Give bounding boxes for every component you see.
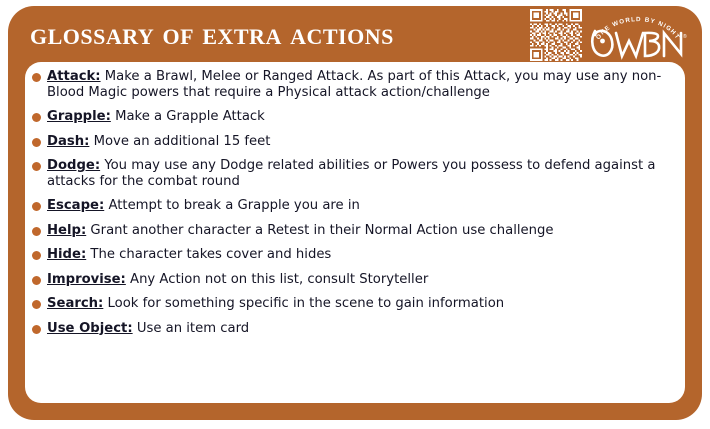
glossary-term: Escape: — [47, 198, 104, 213]
qr-code-icon — [530, 9, 582, 61]
glossary-term: Grapple: — [47, 109, 111, 124]
glossary-card: Glossary of Extra Actions — [8, 6, 702, 420]
list-item: Grapple: Make a Grapple Attack — [25, 109, 685, 125]
glossary-description: Look for something specific in the scene… — [108, 296, 505, 311]
glossary-description: You may use any Dodge related abilities … — [47, 158, 655, 189]
glossary-term: Hide: — [47, 247, 86, 262]
bullet-icon — [32, 227, 41, 236]
list-item: Dash: Move an additional 15 feet — [25, 134, 685, 150]
owbn-logo: ONE WORLD BY NIGHT ® — [588, 8, 688, 64]
list-item: Improvise: Any Action not on this list, … — [25, 272, 685, 288]
owbn-registered-mark: ® — [683, 33, 687, 40]
glossary-term: Dodge: — [47, 158, 100, 173]
glossary-description: The character takes cover and hides — [90, 247, 331, 262]
glossary-description: Make a Brawl, Melee or Ranged Attack. As… — [47, 69, 661, 100]
list-item: Search: Look for something specific in t… — [25, 296, 685, 312]
bullet-icon — [32, 113, 41, 122]
logo-cluster: ONE WORLD BY NIGHT ® — [530, 8, 690, 64]
glossary-term: Improvise: — [47, 272, 126, 287]
bullet-icon — [32, 251, 41, 260]
glossary-description: Make a Grapple Attack — [115, 109, 265, 124]
bullet-icon — [32, 202, 41, 211]
glossary-term: Dash: — [47, 134, 89, 149]
bullet-icon — [32, 73, 41, 82]
bullet-icon — [32, 162, 41, 171]
bullet-icon — [32, 300, 41, 309]
glossary-term: Search: — [47, 296, 103, 311]
bullet-icon — [32, 325, 41, 334]
glossary-term: Use Object: — [47, 321, 133, 336]
glossary-description: Attempt to break a Grapple you are in — [108, 198, 359, 213]
list-item: Attack: Make a Brawl, Melee or Ranged At… — [25, 69, 685, 100]
page-title: Glossary of Extra Actions — [30, 17, 394, 51]
list-item: Dodge: You may use any Dodge related abi… — [25, 158, 685, 189]
glossary-term: Attack: — [47, 69, 101, 84]
glossary-term: Help: — [47, 223, 86, 238]
list-item: Use Object: Use an item card — [25, 321, 685, 337]
glossary-description: Move an additional 15 feet — [94, 134, 271, 149]
glossary-description: Use an item card — [137, 321, 249, 336]
list-item: Help: Grant another character a Retest i… — [25, 223, 685, 239]
glossary-description: Any Action not on this list, consult Sto… — [130, 272, 428, 287]
bullet-icon — [32, 138, 41, 147]
card-header: Glossary of Extra Actions — [8, 6, 702, 62]
list-item: Hide: The character takes cover and hide… — [25, 247, 685, 263]
glossary-panel: Attack: Make a Brawl, Melee or Ranged At… — [25, 62, 685, 403]
bullet-icon — [32, 276, 41, 285]
glossary-description: Grant another character a Retest in thei… — [90, 223, 553, 238]
list-item: Escape: Attempt to break a Grapple you a… — [25, 198, 685, 214]
glossary-list: Attack: Make a Brawl, Melee or Ranged At… — [25, 62, 685, 336]
